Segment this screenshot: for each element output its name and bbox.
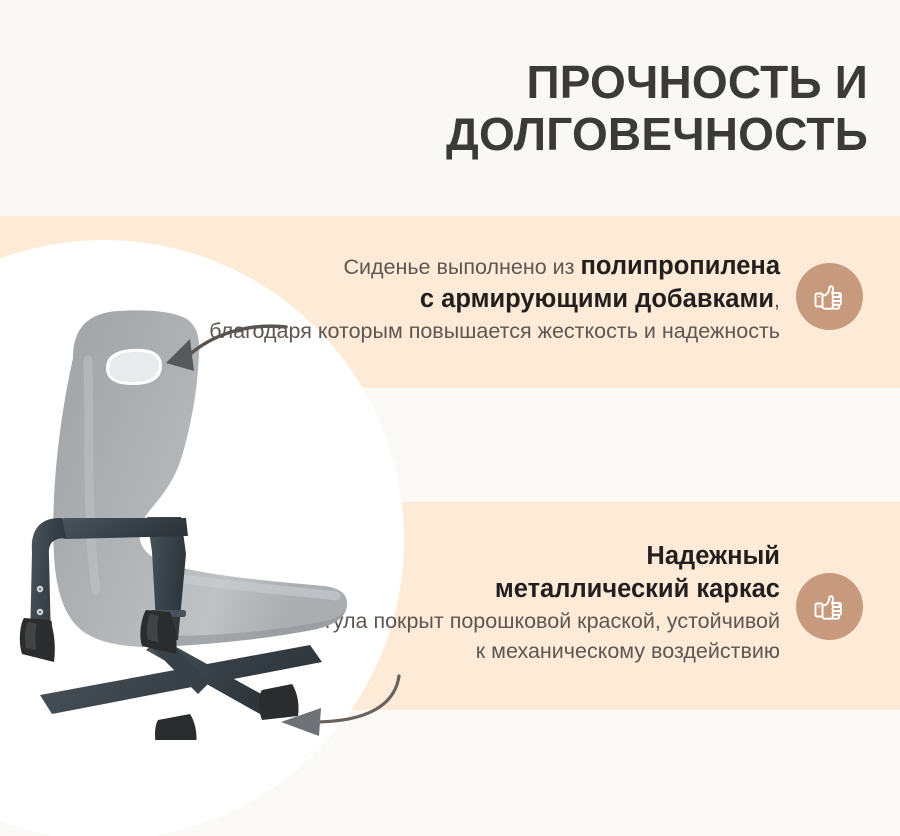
page-title: ПРОЧНОСТЬ И ДОЛГОВЕЧНОСТЬ (248, 57, 868, 161)
status-badge-metal-frame (796, 573, 863, 640)
feature-text-metal-frame: Надежныйметаллический каркасстула покрыт… (300, 540, 780, 667)
poster-root: ПРОЧНОСТЬ И ДОЛГОВЕЧНОСТЬ Сиденье выполн… (0, 0, 900, 836)
feature-tail-text: стула покрыт порошковой краской, устойчи… (312, 609, 780, 664)
feature-bold-text-1: Надежный (646, 542, 780, 570)
status-badge-seat-material (796, 263, 863, 330)
feature-bold-text-1: полипропилена (581, 252, 780, 280)
feature-lead-text: Сиденье выполнено из (343, 255, 580, 279)
back-handle-cutout (106, 349, 162, 385)
thumbs-up-icon (810, 277, 850, 317)
feature-bold-text-2: металлический каркас (495, 575, 780, 603)
chair-illustration (10, 290, 370, 740)
seat-shell (53, 310, 347, 647)
thumbs-up-icon (810, 587, 850, 627)
feature-block-metal-frame: Надежныйметаллический каркасстула покрыт… (300, 518, 780, 688)
feature-trailing-punctuation: , (774, 288, 780, 312)
feature-bold-text-2: с армирующими добавками (420, 285, 774, 313)
